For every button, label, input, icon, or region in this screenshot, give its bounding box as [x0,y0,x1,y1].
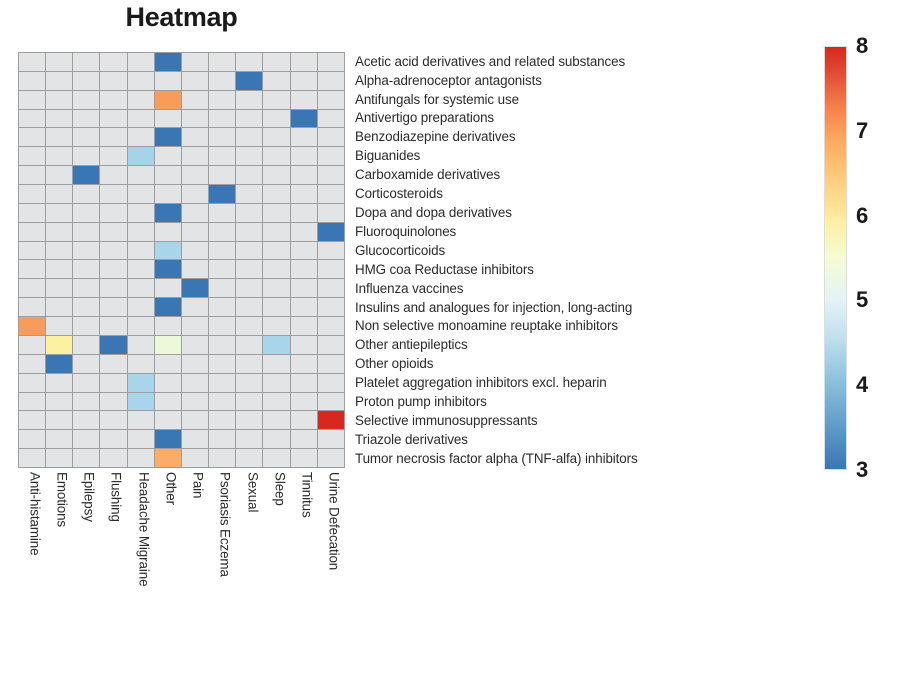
heatmap-cell-empty [46,147,72,165]
heatmap-cell-empty [19,298,45,316]
heatmap-cell-empty [209,317,235,335]
heatmap-cell-filled [318,223,344,241]
heatmap-cell-empty [128,279,154,297]
heatmap-cell-empty [46,411,72,429]
heatmap-cell-empty [318,393,344,411]
heatmap-cell-empty [128,204,154,222]
heatmap-cell-empty [128,53,154,71]
y-axis-tick-label: Non selective monoamine reuptake inhibit… [355,317,825,336]
heatmap-cell-empty [182,411,208,429]
x-axis-tick-slot: Urine Defecation [318,470,345,670]
heatmap-cell-empty [236,53,262,71]
heatmap-cell-empty [100,242,126,260]
colorbar-tick-label: 4 [856,374,868,396]
heatmap-cell-empty [182,204,208,222]
heatmap-cell-empty [128,355,154,373]
heatmap-cell-empty [236,260,262,278]
y-axis-tick-label: Tumor necrosis factor alpha (TNF-alfa) i… [355,449,825,468]
heatmap-cell-filled [155,336,181,354]
y-axis-tick-label: Platelet aggregation inhibitors excl. he… [355,373,825,392]
x-axis-tick-slot: Epilepsy [73,470,100,670]
heatmap-cell-empty [291,298,317,316]
heatmap-cell-empty [46,166,72,184]
heatmap-cell-empty [19,185,45,203]
heatmap-cell-filled [128,393,154,411]
heatmap-cell-empty [263,374,289,392]
heatmap-cell-empty [318,185,344,203]
heatmap-cell-empty [209,147,235,165]
y-axis-tick-label: Acetic acid derivatives and related subs… [355,52,825,71]
heatmap-cell-empty [46,279,72,297]
heatmap-cell-empty [128,298,154,316]
heatmap-cell-empty [236,393,262,411]
heatmap-cell-empty [19,166,45,184]
heatmap-cell-empty [73,147,99,165]
heatmap-cell-empty [263,166,289,184]
heatmap-cell-empty [182,53,208,71]
heatmap-cell-empty [318,317,344,335]
x-axis-tick-slot: Headache Migraine [127,470,154,670]
heatmap-cell-filled [155,204,181,222]
heatmap-cell-empty [209,374,235,392]
y-axis-tick-label: Corticosteroids [355,184,825,203]
heatmap-cell-empty [209,355,235,373]
heatmap-cell-empty [209,393,235,411]
heatmap-cell-empty [318,430,344,448]
heatmap-cell-empty [46,223,72,241]
colorbar-tick-label: 7 [856,120,868,142]
heatmap-grid [18,52,345,468]
x-axis-tick-slot: Emotions [45,470,72,670]
heatmap-cell-empty [182,147,208,165]
heatmap-cell-empty [73,411,99,429]
heatmap-cell-empty [128,91,154,109]
heatmap-cell-empty [73,260,99,278]
x-axis-tick-label: Sexual [246,472,259,512]
heatmap-cell-empty [263,393,289,411]
y-axis-tick-label: Insulins and analogues for injection, lo… [355,298,825,317]
heatmap-cell-empty [263,185,289,203]
heatmap-cell-empty [46,298,72,316]
heatmap-cell-empty [46,260,72,278]
y-axis-tick-label: Antivertigo preparations [355,109,825,128]
heatmap-cell-filled [19,317,45,335]
heatmap-cell-empty [182,374,208,392]
heatmap-cell-filled [128,147,154,165]
heatmap-cell-empty [100,128,126,146]
heatmap-cell-empty [46,242,72,260]
heatmap-cell-empty [291,411,317,429]
heatmap-cell-empty [128,260,154,278]
heatmap-cell-empty [46,449,72,467]
heatmap-cell-empty [100,430,126,448]
heatmap-cell-empty [291,91,317,109]
heatmap-cell-empty [318,166,344,184]
heatmap-cell-empty [128,336,154,354]
x-axis-tick-label: Headache Migraine [137,472,150,586]
heatmap-cell-empty [128,449,154,467]
y-axis-tick-label: Proton pump inhibitors [355,392,825,411]
heatmap-cell-empty [19,53,45,71]
heatmap-cell-empty [155,279,181,297]
heatmap-cell-empty [209,91,235,109]
heatmap-cell-empty [263,260,289,278]
heatmap-cell-empty [73,242,99,260]
heatmap-cell-empty [19,72,45,90]
heatmap-cell-empty [291,53,317,71]
heatmap-cell-empty [100,298,126,316]
heatmap-cell-empty [128,223,154,241]
heatmap-cell-empty [73,374,99,392]
heatmap-cell-empty [73,355,99,373]
heatmap-cell-filled [263,336,289,354]
colorbar-legend: 345678 [824,46,894,470]
heatmap-cell-empty [209,336,235,354]
heatmap-cell-empty [291,260,317,278]
heatmap-cell-filled [46,355,72,373]
heatmap-cell-empty [263,430,289,448]
heatmap-cell-empty [73,393,99,411]
heatmap-cell-empty [236,166,262,184]
colorbar-gradient [824,46,847,470]
x-axis-tick-label: Anti-histamine [28,472,41,555]
heatmap-cell-filled [236,72,262,90]
heatmap-cell-empty [73,91,99,109]
heatmap-cell-filled [155,430,181,448]
x-axis-tick-slot: Tinnitus [291,470,318,670]
heatmap-cell-empty [236,110,262,128]
heatmap-cell-empty [263,147,289,165]
heatmap-cell-empty [291,355,317,373]
heatmap-cell-empty [100,449,126,467]
heatmap-cell-empty [182,260,208,278]
heatmap-cell-empty [318,449,344,467]
heatmap-cell-empty [19,449,45,467]
heatmap-cell-empty [155,185,181,203]
heatmap-cell-empty [263,91,289,109]
heatmap-figure: Heatmap Acetic acid derivatives and rela… [0,0,899,676]
x-axis-tick-slot: Other [154,470,181,670]
y-axis-tick-label: Other opioids [355,355,825,374]
heatmap-cell-empty [291,128,317,146]
heatmap-cell-empty [46,204,72,222]
heatmap-cell-empty [236,91,262,109]
heatmap-cell-empty [19,147,45,165]
heatmap-cell-empty [100,223,126,241]
heatmap-cell-empty [209,242,235,260]
heatmap-cell-empty [236,336,262,354]
heatmap-cell-empty [263,204,289,222]
heatmap-cell-empty [100,110,126,128]
x-axis-tick-label: Pain [191,472,204,498]
heatmap-cell-empty [209,204,235,222]
heatmap-cell-empty [236,242,262,260]
heatmap-cell-empty [318,204,344,222]
x-axis-tick-slot: Flushing [100,470,127,670]
heatmap-cell-filled [155,53,181,71]
x-axis-tick-label: Urine Defecation [328,472,341,570]
heatmap-cell-empty [19,204,45,222]
heatmap-cell-empty [263,53,289,71]
heatmap-cell-empty [100,72,126,90]
heatmap-cell-empty [46,430,72,448]
x-axis-tick-slot: Sexual [236,470,263,670]
heatmap-cell-empty [19,411,45,429]
heatmap-cell-empty [73,72,99,90]
heatmap-cell-empty [73,128,99,146]
heatmap-cell-empty [291,166,317,184]
heatmap-cell-filled [209,185,235,203]
x-axis-tick-label: Epilepsy [82,472,95,522]
heatmap-cell-empty [73,336,99,354]
heatmap-cell-empty [46,317,72,335]
heatmap-cell-empty [182,166,208,184]
x-axis-tick-label: Psoriasis Eczema [219,472,232,577]
heatmap-cell-empty [291,242,317,260]
heatmap-cell-empty [73,279,99,297]
heatmap-cell-empty [128,185,154,203]
x-axis-tick-label: Emotions [55,472,68,527]
heatmap-cell-empty [318,128,344,146]
heatmap-cell-empty [100,317,126,335]
heatmap-cell-empty [19,223,45,241]
heatmap-cell-empty [263,298,289,316]
heatmap-cell-empty [236,355,262,373]
heatmap-cell-filled [73,166,99,184]
heatmap-cell-empty [236,204,262,222]
y-axis-tick-label: Dopa and dopa derivatives [355,203,825,222]
heatmap-cell-empty [46,72,72,90]
heatmap-cell-empty [291,430,317,448]
heatmap-cell-empty [209,430,235,448]
heatmap-cell-empty [236,147,262,165]
colorbar-tick-label: 6 [856,205,868,227]
heatmap-cell-empty [155,317,181,335]
heatmap-cell-empty [209,260,235,278]
heatmap-cell-empty [209,72,235,90]
heatmap-cell-empty [155,374,181,392]
heatmap-cell-empty [318,91,344,109]
heatmap-cell-empty [236,411,262,429]
heatmap-cell-empty [291,374,317,392]
y-axis-tick-label: HMG coa Reductase inhibitors [355,260,825,279]
heatmap-cell-empty [19,355,45,373]
heatmap-cell-empty [209,166,235,184]
heatmap-cell-empty [263,411,289,429]
heatmap-cell-empty [100,393,126,411]
heatmap-cell-empty [209,411,235,429]
heatmap-cell-empty [19,242,45,260]
heatmap-cell-empty [263,355,289,373]
heatmap-cell-empty [128,72,154,90]
heatmap-cell-empty [46,185,72,203]
heatmap-cell-empty [318,279,344,297]
heatmap-cell-empty [155,393,181,411]
heatmap-cell-empty [182,223,208,241]
heatmap-cell-empty [318,147,344,165]
heatmap-cell-empty [46,128,72,146]
heatmap-cell-empty [100,374,126,392]
heatmap-cell-empty [209,279,235,297]
heatmap-cell-empty [100,185,126,203]
heatmap-cell-empty [155,223,181,241]
y-axis-tick-label: Influenza vaccines [355,279,825,298]
heatmap-cell-empty [182,393,208,411]
heatmap-cell-empty [236,430,262,448]
heatmap-cell-empty [19,91,45,109]
heatmap-cell-empty [236,317,262,335]
heatmap-cell-empty [155,147,181,165]
heatmap-cell-empty [128,242,154,260]
heatmap-cell-empty [46,91,72,109]
heatmap-cell-empty [100,166,126,184]
heatmap-cell-empty [291,223,317,241]
heatmap-cell-empty [291,185,317,203]
heatmap-cell-empty [236,128,262,146]
heatmap-cell-empty [291,336,317,354]
heatmap-cell-empty [19,279,45,297]
heatmap-cell-empty [73,204,99,222]
heatmap-cell-empty [182,91,208,109]
heatmap-cell-empty [236,279,262,297]
heatmap-cell-empty [73,449,99,467]
heatmap-cell-empty [209,449,235,467]
y-axis-tick-label: Carboxamide derivatives [355,165,825,184]
heatmap-cell-empty [100,147,126,165]
heatmap-cell-filled [155,128,181,146]
heatmap-cell-filled [155,91,181,109]
heatmap-cell-empty [46,110,72,128]
heatmap-cell-empty [318,355,344,373]
heatmap-cell-empty [182,336,208,354]
heatmap-cell-empty [155,411,181,429]
x-axis-tick-label: Flushing [110,472,123,522]
heatmap-cell-filled [182,279,208,297]
heatmap-cell-empty [318,110,344,128]
heatmap-cell-filled [100,336,126,354]
x-axis-tick-slot: Pain [182,470,209,670]
heatmap-cell-empty [318,336,344,354]
heatmap-cell-empty [291,279,317,297]
heatmap-cell-empty [128,128,154,146]
heatmap-cell-empty [182,449,208,467]
heatmap-cell-empty [209,110,235,128]
heatmap-cell-empty [236,223,262,241]
heatmap-cell-empty [182,430,208,448]
heatmap-cell-empty [318,374,344,392]
heatmap-cell-empty [128,411,154,429]
heatmap-cell-empty [73,223,99,241]
x-axis-tick-labels: Anti-histamineEmotionsEpilepsyFlushingHe… [18,470,345,670]
heatmap-cell-filled [155,449,181,467]
heatmap-cell-empty [46,374,72,392]
heatmap-plot-area [18,52,345,468]
heatmap-cell-empty [318,53,344,71]
heatmap-cell-empty [318,242,344,260]
heatmap-cell-empty [263,242,289,260]
heatmap-cell-empty [73,185,99,203]
heatmap-cell-empty [100,260,126,278]
y-axis-tick-label: Alpha-adrenoceptor antagonists [355,71,825,90]
x-axis-tick-label: Tinnitus [300,472,313,518]
heatmap-cell-empty [291,317,317,335]
heatmap-cell-empty [291,393,317,411]
heatmap-cell-empty [128,430,154,448]
heatmap-cell-empty [19,374,45,392]
y-axis-tick-label: Antifungals for systemic use [355,90,825,109]
heatmap-cell-empty [263,128,289,146]
y-axis-tick-label: Triazole derivatives [355,430,825,449]
heatmap-cell-empty [100,53,126,71]
colorbar-tick-label: 3 [856,459,868,481]
heatmap-cell-filled [128,374,154,392]
heatmap-cell-empty [100,411,126,429]
heatmap-cell-empty [182,317,208,335]
heatmap-cell-empty [100,279,126,297]
heatmap-cell-empty [19,393,45,411]
heatmap-cell-empty [182,355,208,373]
heatmap-cell-empty [73,298,99,316]
heatmap-cell-empty [291,449,317,467]
heatmap-cell-empty [19,128,45,146]
heatmap-cell-filled [155,260,181,278]
heatmap-cell-empty [155,110,181,128]
heatmap-cell-empty [19,336,45,354]
heatmap-cell-filled [155,242,181,260]
heatmap-cell-empty [209,128,235,146]
heatmap-cell-empty [236,298,262,316]
y-axis-tick-label: Benzodiazepine derivatives [355,128,825,147]
heatmap-cell-empty [73,317,99,335]
heatmap-cell-filled [155,298,181,316]
heatmap-cell-empty [73,110,99,128]
y-axis-tick-label: Selective immunosuppressants [355,411,825,430]
heatmap-cell-empty [128,166,154,184]
heatmap-cell-empty [318,298,344,316]
y-axis-tick-label: Biguanides [355,147,825,166]
colorbar-tick-label: 8 [856,35,868,57]
heatmap-cell-empty [318,260,344,278]
heatmap-cell-empty [263,317,289,335]
heatmap-cell-empty [46,53,72,71]
heatmap-cell-empty [100,91,126,109]
heatmap-cell-empty [291,72,317,90]
heatmap-cell-empty [263,72,289,90]
heatmap-cell-empty [209,223,235,241]
heatmap-cell-empty [182,242,208,260]
heatmap-cell-empty [182,128,208,146]
heatmap-cell-empty [318,72,344,90]
heatmap-cell-empty [209,53,235,71]
heatmap-cell-empty [182,110,208,128]
y-axis-tick-label: Other antiepileptics [355,336,825,355]
heatmap-cell-filled [318,411,344,429]
heatmap-cell-filled [46,336,72,354]
heatmap-cell-empty [19,260,45,278]
heatmap-cell-empty [263,449,289,467]
heatmap-cell-empty [236,449,262,467]
x-axis-tick-slot: Anti-histamine [18,470,45,670]
heatmap-cell-empty [73,430,99,448]
heatmap-cell-empty [128,110,154,128]
x-axis-tick-slot: Psoriasis Eczema [209,470,236,670]
heatmap-cell-empty [236,185,262,203]
heatmap-cell-empty [182,72,208,90]
heatmap-cell-empty [263,279,289,297]
heatmap-cell-empty [128,317,154,335]
heatmap-cell-empty [291,147,317,165]
chart-title: Heatmap [18,2,345,33]
